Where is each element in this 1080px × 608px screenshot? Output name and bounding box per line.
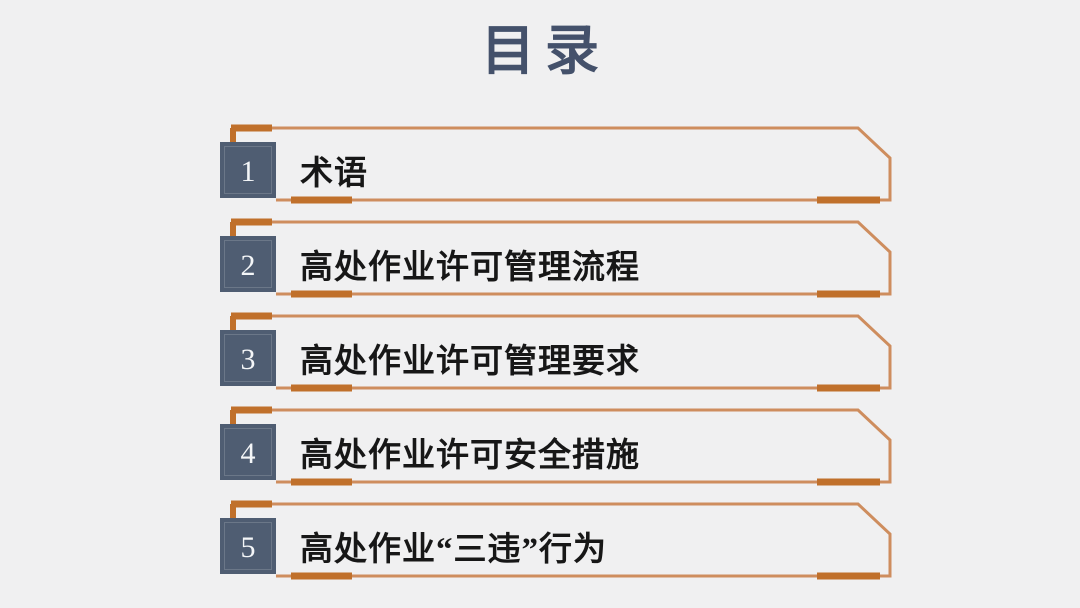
entry-title[interactable]: 术语 xyxy=(300,142,368,198)
entry-title[interactable]: 高处作业许可安全措施 xyxy=(300,424,640,480)
entry-number-box[interactable]: 2 xyxy=(220,236,276,292)
entry-number: 2 xyxy=(220,236,276,292)
entry-number: 4 xyxy=(220,424,276,480)
entry-title[interactable]: 高处作业许可管理要求 xyxy=(300,330,640,386)
entry-number: 5 xyxy=(220,518,276,574)
entry-title[interactable]: 高处作业“三违”行为 xyxy=(300,518,607,574)
entry-number-box[interactable]: 3 xyxy=(220,330,276,386)
page-title: 目录 xyxy=(0,20,1080,82)
toc-entry[interactable]: 1术语 xyxy=(0,112,1080,206)
entry-outline xyxy=(0,112,1080,206)
entry-number: 1 xyxy=(220,142,276,198)
entry-title[interactable]: 高处作业许可管理流程 xyxy=(300,236,640,292)
slide-canvas: 目录 1术语2高处作业许可管理流程3高处作业许可管理要求4高处作业许可安全措施5… xyxy=(0,0,1080,608)
toc-entry[interactable]: 4高处作业许可安全措施 xyxy=(0,394,1080,488)
entry-number-box[interactable]: 4 xyxy=(220,424,276,480)
entry-number-box[interactable]: 5 xyxy=(220,518,276,574)
entry-number: 3 xyxy=(220,330,276,386)
toc-entry[interactable]: 3高处作业许可管理要求 xyxy=(0,300,1080,394)
toc-entry[interactable]: 5高处作业“三违”行为 xyxy=(0,488,1080,582)
toc-entry[interactable]: 2高处作业许可管理流程 xyxy=(0,206,1080,300)
entry-number-box[interactable]: 1 xyxy=(220,142,276,198)
